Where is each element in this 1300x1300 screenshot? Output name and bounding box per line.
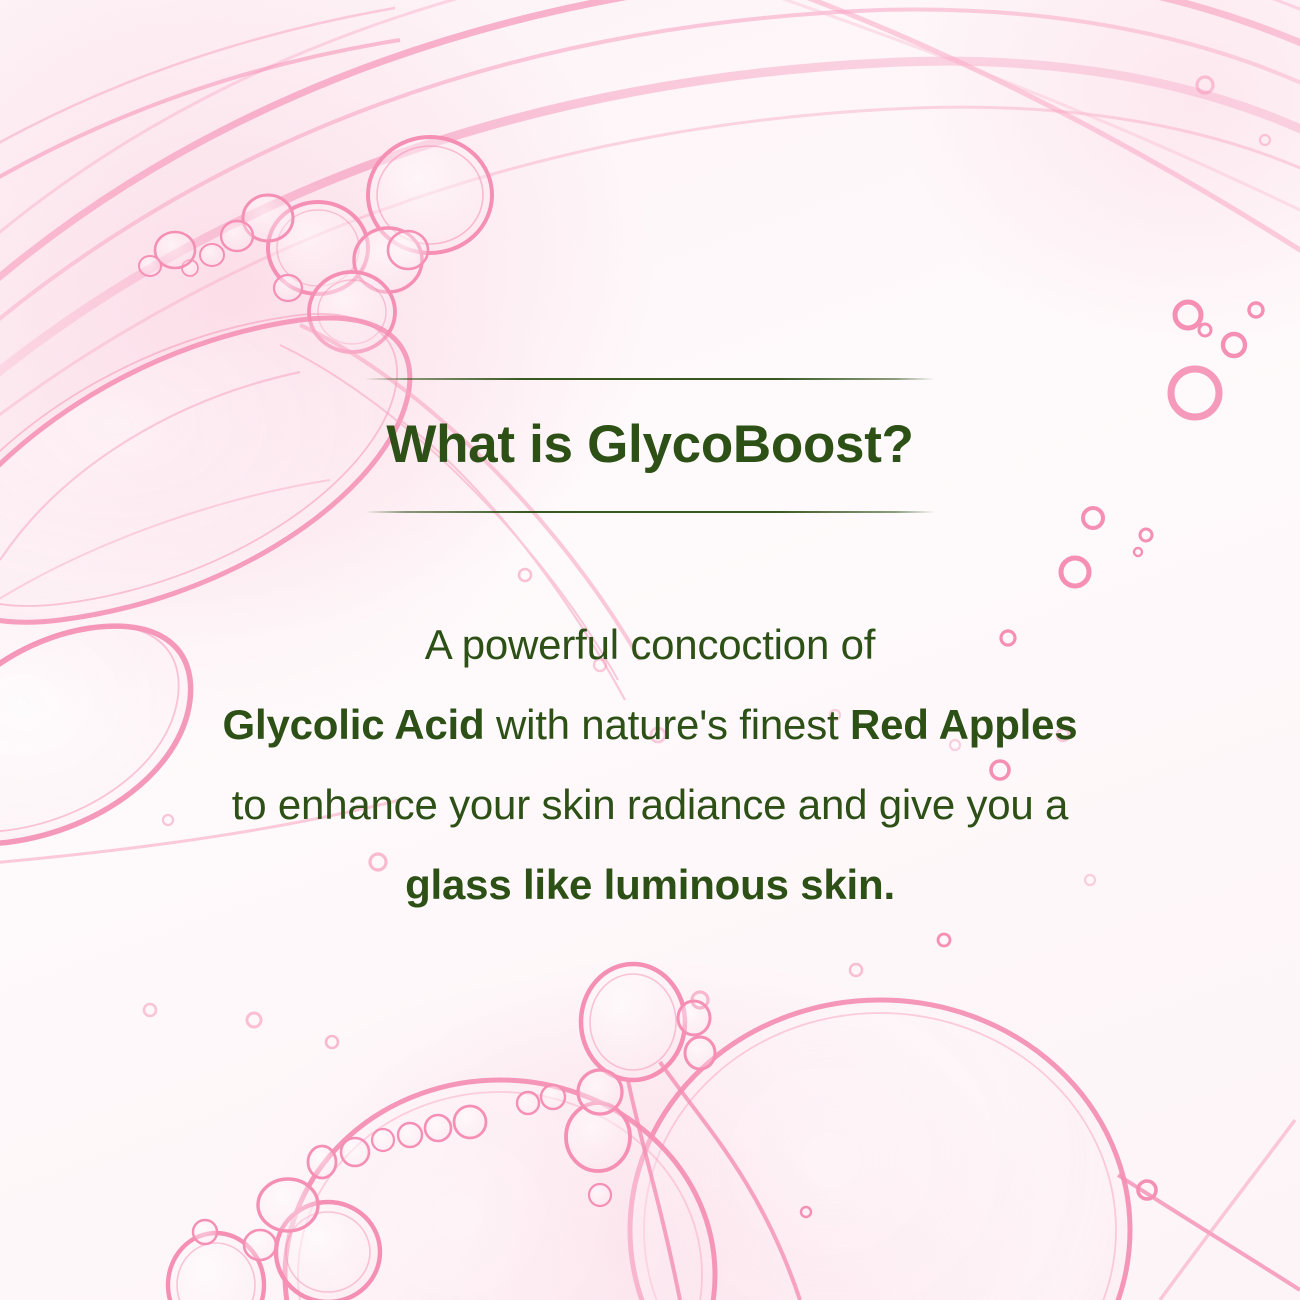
product-info-card: What is GlycoBoost? A powerful concoctio… <box>0 0 1300 1300</box>
body-copy: A powerful concoction of Glycolic Acid w… <box>150 605 1150 925</box>
body-line-4: glass like luminous skin. <box>150 845 1150 925</box>
body-line-2-plain: with nature's finest <box>484 701 849 748</box>
card-content: What is GlycoBoost? A powerful concoctio… <box>0 0 1300 1300</box>
page-title: What is GlycoBoost? <box>365 380 935 511</box>
heading-rule-bottom <box>365 511 935 513</box>
body-line-3: to enhance your skin radiance and give y… <box>150 765 1150 845</box>
ingredient-red-apples: Red Apples <box>850 701 1077 748</box>
body-line-1: A powerful concoction of <box>150 605 1150 685</box>
body-line-2: Glycolic Acid with nature's finest Red A… <box>150 685 1150 765</box>
heading-block: What is GlycoBoost? <box>365 378 935 513</box>
ingredient-glycolic-acid: Glycolic Acid <box>223 701 485 748</box>
